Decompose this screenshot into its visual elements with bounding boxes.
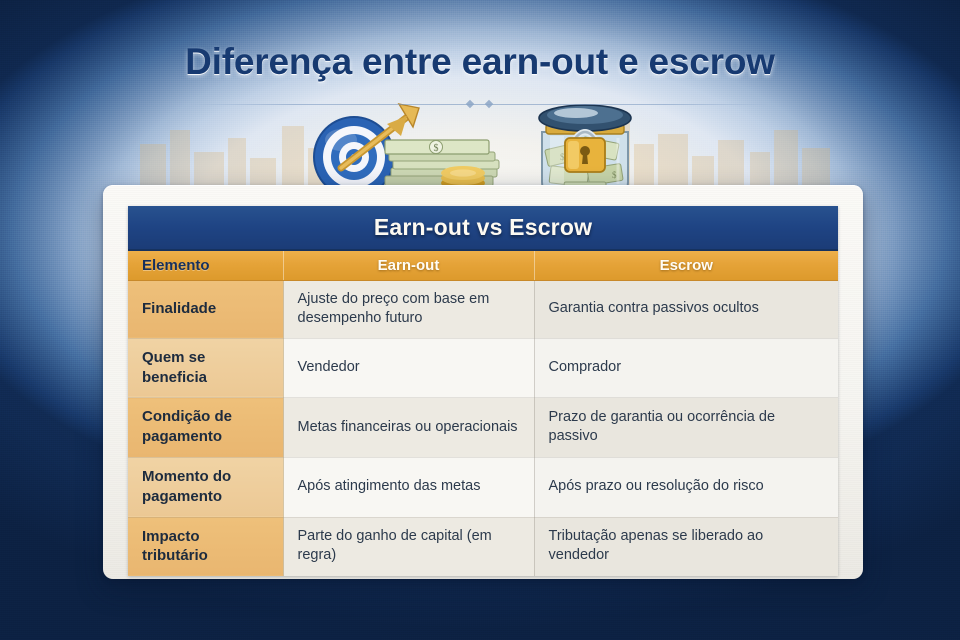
row-earnout-value: Ajuste do preço com base em desempenho f… bbox=[283, 280, 534, 338]
row-element-label: Condição de pagamento bbox=[128, 398, 283, 458]
row-element-label: Impacto tributário bbox=[128, 517, 283, 576]
svg-text:$: $ bbox=[434, 143, 439, 154]
column-header-earnout[interactable]: Earn-out bbox=[283, 250, 534, 280]
row-element-label: Momento do pagamento bbox=[128, 457, 283, 517]
row-escrow-value: Comprador bbox=[534, 338, 838, 398]
row-escrow-value: Garantia contra passivos ocultos bbox=[534, 280, 838, 338]
slide-canvas: $ bbox=[0, 0, 960, 640]
table-row: Condição de pagamento Metas financeiras … bbox=[128, 398, 838, 458]
row-earnout-value: Após atingimento das metas bbox=[283, 457, 534, 517]
page-title: Diferença entre earn-out e escrow bbox=[0, 41, 960, 83]
divider-rule bbox=[190, 104, 770, 105]
table-banner-title: Earn-out vs Escrow bbox=[128, 206, 838, 250]
row-escrow-value: Prazo de garantia ou ocorrência de passi… bbox=[534, 398, 838, 458]
svg-text:$: $ bbox=[612, 170, 617, 180]
table-row: Finalidade Ajuste do preço com base em d… bbox=[128, 280, 838, 338]
column-header-elemento[interactable]: Elemento bbox=[128, 250, 283, 280]
comparison-card: Earn-out vs Escrow Elemento Earn-out Esc… bbox=[103, 185, 863, 579]
table-row: Quem se beneficia Vendedor Comprador bbox=[128, 338, 838, 398]
table-row: Momento do pagamento Após atingimento da… bbox=[128, 457, 838, 517]
row-element-label: Quem se beneficia bbox=[128, 338, 283, 398]
table-column-header-row: Elemento Earn-out Escrow bbox=[128, 250, 838, 280]
row-earnout-value: Parte do ganho de capital (em regra) bbox=[283, 517, 534, 576]
row-element-label: Finalidade bbox=[128, 280, 283, 338]
table-banner-row: Earn-out vs Escrow bbox=[128, 206, 838, 250]
row-earnout-value: Vendedor bbox=[283, 338, 534, 398]
row-escrow-value: Após prazo ou resolução do risco bbox=[534, 457, 838, 517]
row-escrow-value: Tributação apenas se liberado ao vendedo… bbox=[534, 517, 838, 576]
table-row: Impacto tributário Parte do ganho de cap… bbox=[128, 517, 838, 576]
comparison-table: Earn-out vs Escrow Elemento Earn-out Esc… bbox=[128, 206, 838, 576]
row-earnout-value: Metas financeiras ou operacionais bbox=[283, 398, 534, 458]
column-header-escrow[interactable]: Escrow bbox=[534, 250, 838, 280]
decorative-divider bbox=[190, 103, 770, 106]
